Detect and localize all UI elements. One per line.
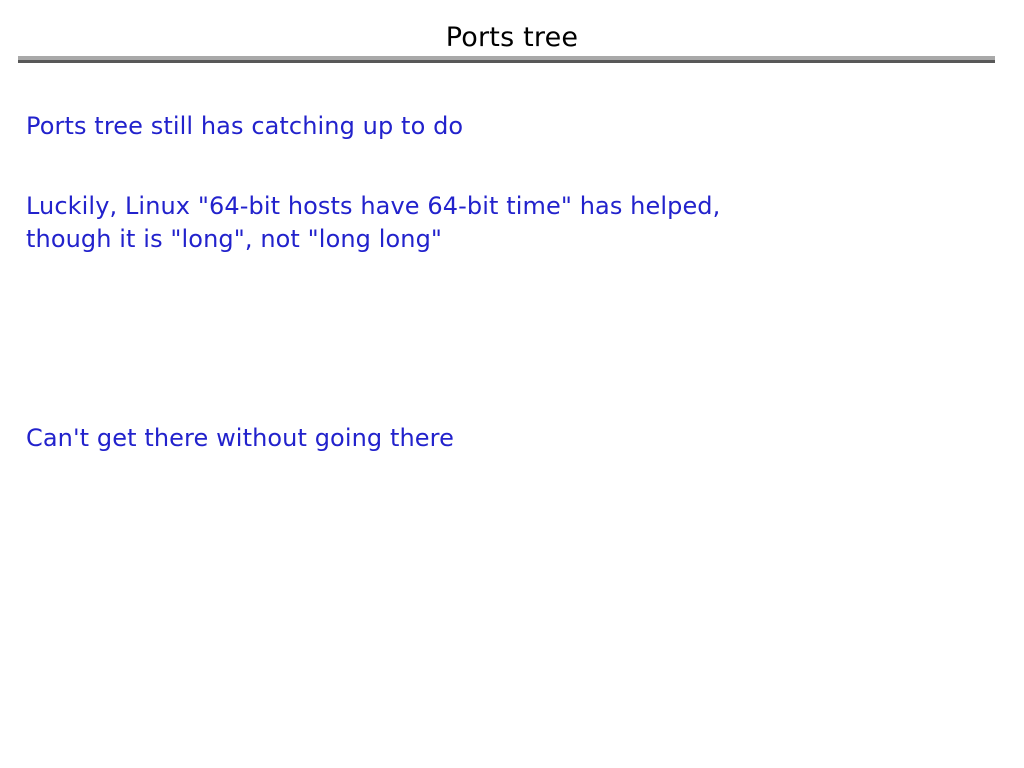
body-paragraph-2: Luckily, Linux "64-bit hosts have 64-bit… bbox=[26, 190, 720, 256]
page-title: Ports tree bbox=[0, 22, 1024, 54]
body-blank-gap bbox=[26, 260, 27, 420]
title-divider bbox=[18, 56, 995, 63]
body-paragraph-1: Ports tree still has catching up to do bbox=[26, 110, 463, 143]
presentation-slide: Ports tree Ports tree still has catching… bbox=[0, 0, 1024, 768]
title-divider-shadow bbox=[18, 60, 995, 63]
body-paragraph-3: Can't get there without going there bbox=[26, 422, 454, 455]
